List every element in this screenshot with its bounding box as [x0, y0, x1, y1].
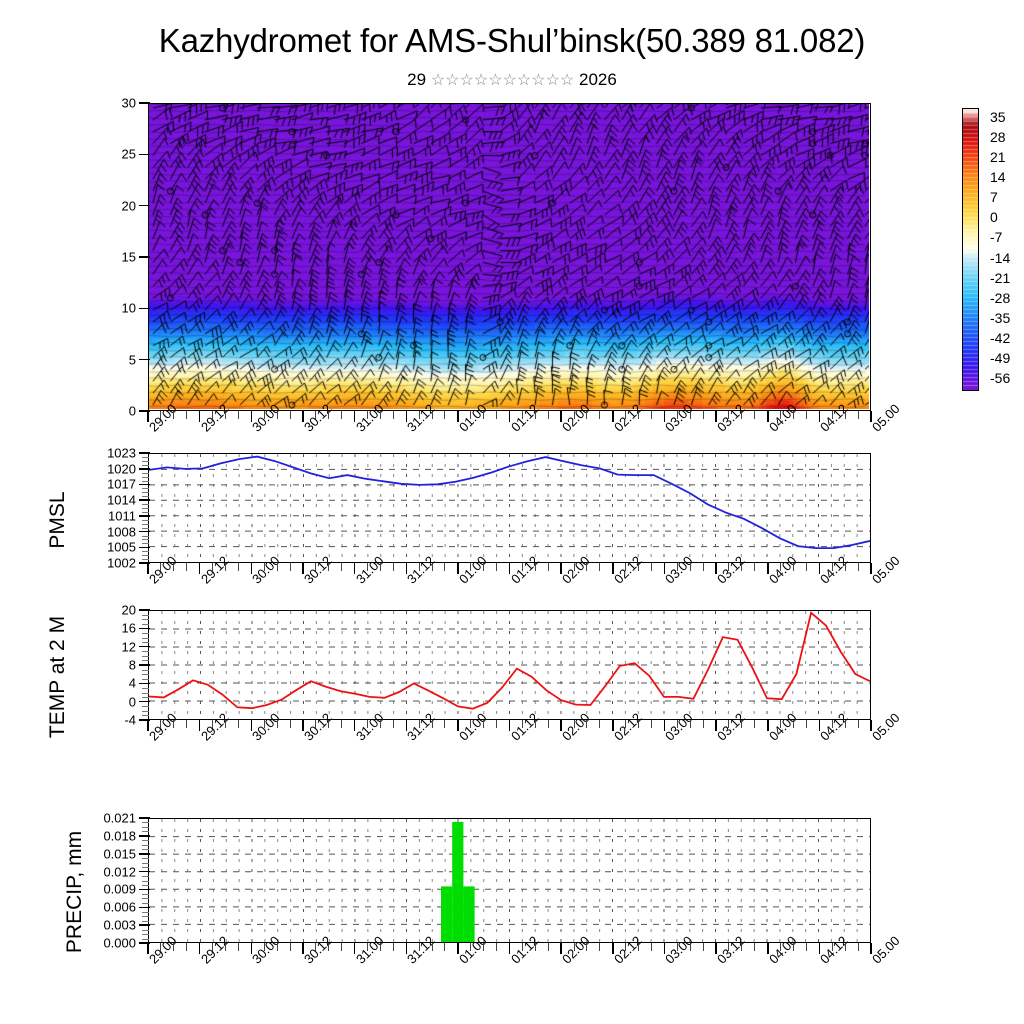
x-minor-tick: [238, 943, 239, 951]
y-minor-tick: [142, 457, 149, 458]
y-minor-tick: [142, 930, 149, 931]
x-minor-tick: [548, 720, 549, 728]
x-minor-tick: [277, 943, 278, 951]
data-series-line: [149, 613, 870, 709]
x-minor-tick: [535, 720, 536, 728]
colorbar-tick-label: -49: [990, 350, 1010, 366]
x-minor-tick: [728, 411, 729, 419]
y-minor-tick: [142, 912, 149, 913]
x-minor-tick: [419, 720, 420, 728]
x-minor-tick: [264, 720, 265, 728]
x-minor-tick: [548, 943, 549, 951]
x-minor-tick: [780, 411, 781, 419]
y-tick: [139, 609, 150, 611]
y-minor-tick: [142, 504, 149, 505]
y-minor-tick: [142, 876, 149, 877]
x-minor-tick: [328, 411, 329, 419]
x-minor-tick: [845, 943, 846, 951]
x-minor-tick: [277, 720, 278, 728]
y-tick: [139, 484, 150, 486]
colorbar-tick-label: -14: [990, 250, 1010, 266]
x-minor-tick: [328, 943, 329, 951]
y-tick-label: 0.009: [70, 882, 136, 897]
x-minor-tick: [690, 411, 691, 419]
precip-bar: [463, 886, 474, 942]
x-minor-tick: [703, 563, 704, 571]
x-minor-tick: [793, 563, 794, 571]
x-minor-tick: [160, 720, 161, 728]
x-minor-tick: [277, 411, 278, 419]
x-minor-tick: [225, 720, 226, 728]
y-tick: [139, 646, 150, 648]
y-tick: [139, 817, 150, 819]
x-minor-tick: [780, 720, 781, 728]
y-tick: [139, 628, 150, 630]
x-minor-tick: [367, 411, 368, 419]
x-minor-tick: [264, 943, 265, 951]
x-minor-tick: [290, 943, 291, 951]
x-minor-tick: [845, 411, 846, 419]
y-tick-label: 0.006: [70, 900, 136, 915]
y-tick: [139, 683, 150, 685]
x-minor-tick: [754, 411, 755, 419]
temp-panel: [148, 610, 871, 720]
y-tick-label: 10: [70, 301, 136, 316]
x-minor-tick: [522, 411, 523, 419]
x-minor-tick: [470, 411, 471, 419]
y-tick-label: 1014: [70, 493, 136, 508]
y-tick-label: 12: [70, 639, 136, 654]
x-minor-tick: [483, 411, 484, 419]
y-tick-label: 15: [70, 250, 136, 265]
x-minor-tick: [574, 943, 575, 951]
precip-panel: [148, 818, 871, 943]
y-tick-label: 1005: [70, 540, 136, 555]
y-tick: [139, 499, 150, 501]
y-minor-tick: [142, 939, 149, 940]
x-minor-tick: [703, 720, 704, 728]
x-minor-tick: [703, 411, 704, 419]
x-minor-tick: [599, 411, 600, 419]
x-minor-tick: [574, 720, 575, 728]
x-minor-tick: [832, 411, 833, 419]
x-minor-tick: [728, 720, 729, 728]
x-minor-tick: [290, 720, 291, 728]
x-minor-tick: [483, 943, 484, 951]
y-minor-tick: [142, 867, 149, 868]
y-minor-tick: [142, 679, 149, 680]
y-minor-tick: [142, 633, 149, 634]
y-tick-label: 0.012: [70, 864, 136, 879]
y-minor-tick: [142, 615, 149, 616]
x-minor-tick: [315, 563, 316, 571]
x-minor-tick: [535, 563, 536, 571]
y-tick: [139, 664, 150, 666]
y-tick-label: 1017: [70, 477, 136, 492]
colorbar-tick-label: 14: [990, 169, 1006, 185]
x-minor-tick: [444, 720, 445, 728]
x-minor-tick: [225, 943, 226, 951]
x-minor-tick: [754, 563, 755, 571]
y-minor-tick: [142, 524, 149, 525]
x-minor-tick: [858, 720, 859, 728]
y-minor-tick: [142, 822, 149, 823]
y-minor-tick: [142, 488, 149, 489]
y-minor-tick: [142, 693, 149, 694]
y-tick: [139, 835, 150, 837]
y-minor-tick: [142, 543, 149, 544]
y-tick: [139, 924, 150, 926]
x-minor-tick: [574, 563, 575, 571]
x-minor-tick: [264, 563, 265, 571]
x-tick-label: 05.00: [869, 710, 903, 744]
y-minor-tick: [142, 706, 149, 707]
x-minor-tick: [225, 563, 226, 571]
x-minor-tick: [341, 720, 342, 728]
x-minor-tick: [419, 563, 420, 571]
x-minor-tick: [483, 563, 484, 571]
y-tick-label: 1011: [70, 508, 136, 523]
y-minor-tick: [142, 688, 149, 689]
y-tick: [139, 102, 150, 104]
x-minor-tick: [858, 411, 859, 419]
x-minor-tick: [393, 943, 394, 951]
pmsl-panel: [148, 453, 871, 563]
x-minor-tick: [470, 720, 471, 728]
subtitle-missing-glyphs: ☆☆☆☆☆☆☆☆☆☆: [431, 72, 574, 89]
y-tick: [139, 853, 150, 855]
x-minor-tick: [225, 411, 226, 419]
x-minor-tick: [496, 563, 497, 571]
x-minor-tick: [845, 720, 846, 728]
x-minor-tick: [651, 563, 652, 571]
x-minor-tick: [393, 411, 394, 419]
x-minor-tick: [212, 411, 213, 419]
x-minor-tick: [186, 411, 187, 419]
y-minor-tick: [142, 674, 149, 675]
y-minor-tick: [142, 461, 149, 462]
y-tick: [139, 701, 150, 703]
y-tick-label: 30: [70, 96, 136, 111]
colorbar-tick-label: 28: [990, 129, 1006, 145]
y-minor-tick: [142, 555, 149, 556]
subtitle-year: 2026: [579, 70, 617, 89]
x-minor-tick: [173, 411, 174, 419]
x-minor-tick: [690, 563, 691, 571]
x-minor-tick: [173, 563, 174, 571]
y-tick-label: 16: [70, 621, 136, 636]
y-minor-tick: [142, 512, 149, 513]
x-minor-tick: [483, 720, 484, 728]
colorbar-tick-label: -21: [990, 270, 1010, 286]
x-minor-tick: [290, 411, 291, 419]
x-minor-tick: [741, 411, 742, 419]
y-minor-tick: [142, 642, 149, 643]
y-minor-tick: [142, 473, 149, 474]
colorbar: [962, 108, 979, 391]
x-minor-tick: [444, 563, 445, 571]
y-tick-label: 0.000: [70, 936, 136, 951]
x-minor-tick: [264, 411, 265, 419]
y-tick-label: 20: [70, 603, 136, 618]
y-tick-label: 5: [70, 352, 136, 367]
x-minor-tick: [535, 411, 536, 419]
x-minor-tick: [522, 943, 523, 951]
y-minor-tick: [142, 916, 149, 917]
y-tick-label: 4: [70, 676, 136, 691]
y-minor-tick: [142, 670, 149, 671]
x-minor-tick: [574, 411, 575, 419]
x-minor-tick: [380, 943, 381, 951]
colorbar-tick-label: -28: [990, 290, 1010, 306]
x-minor-tick: [160, 563, 161, 571]
x-minor-tick: [625, 411, 626, 419]
y-minor-tick: [142, 898, 149, 899]
pmsl-axis-label: PMSL: [46, 460, 70, 580]
colorbar-tick-label: 0: [990, 209, 998, 225]
temp-axis-label: TEMP at 2 M: [46, 587, 70, 767]
colorbar-tick-label: 7: [990, 189, 998, 205]
y-minor-tick: [142, 496, 149, 497]
x-minor-tick: [586, 720, 587, 728]
x-minor-tick: [173, 943, 174, 951]
x-minor-tick: [780, 943, 781, 951]
x-minor-tick: [432, 943, 433, 951]
y-tick: [139, 154, 150, 156]
colorbar-tick-label: 35: [990, 109, 1006, 125]
y-minor-tick: [142, 858, 149, 859]
y-tick-label: 0: [70, 694, 136, 709]
x-minor-tick: [586, 943, 587, 951]
x-minor-tick: [780, 563, 781, 571]
y-tick-label: 1002: [70, 556, 136, 571]
x-minor-tick: [793, 943, 794, 951]
x-minor-tick: [496, 943, 497, 951]
y-tick-label: 0: [70, 404, 136, 419]
y-minor-tick: [142, 715, 149, 716]
y-minor-tick: [142, 551, 149, 552]
y-tick: [139, 308, 150, 310]
x-minor-tick: [677, 720, 678, 728]
x-minor-tick: [677, 943, 678, 951]
x-minor-tick: [341, 411, 342, 419]
precip-bar: [441, 886, 452, 942]
x-minor-tick: [212, 563, 213, 571]
y-tick-label: 0.021: [70, 811, 136, 826]
x-minor-tick: [328, 563, 329, 571]
x-minor-tick: [380, 563, 381, 571]
x-minor-tick: [638, 411, 639, 419]
x-minor-tick: [419, 943, 420, 951]
x-minor-tick: [341, 943, 342, 951]
y-tick-label: 20: [70, 198, 136, 213]
x-minor-tick: [173, 720, 174, 728]
y-minor-tick: [142, 863, 149, 864]
x-minor-tick: [677, 563, 678, 571]
y-tick: [139, 359, 150, 361]
y-minor-tick: [142, 660, 149, 661]
y-tick: [139, 205, 150, 207]
x-minor-tick: [367, 943, 368, 951]
x-minor-tick: [845, 563, 846, 571]
y-minor-tick: [142, 840, 149, 841]
y-tick: [139, 871, 150, 873]
x-minor-tick: [703, 943, 704, 951]
x-minor-tick: [741, 720, 742, 728]
x-minor-tick: [496, 720, 497, 728]
y-minor-tick: [142, 845, 149, 846]
x-minor-tick: [444, 943, 445, 951]
x-minor-tick: [367, 563, 368, 571]
page-title: Kazhydromet for AMS-Shul’binsk(50.389 81…: [0, 22, 1024, 60]
x-minor-tick: [741, 943, 742, 951]
x-minor-tick: [393, 720, 394, 728]
y-tick-label: -4: [70, 713, 136, 728]
y-tick-label: 0.003: [70, 918, 136, 933]
x-minor-tick: [367, 720, 368, 728]
x-minor-tick: [793, 411, 794, 419]
x-minor-tick: [728, 563, 729, 571]
x-minor-tick: [832, 563, 833, 571]
x-minor-tick: [522, 563, 523, 571]
y-tick-label: 8: [70, 658, 136, 673]
x-minor-tick: [651, 943, 652, 951]
x-minor-tick: [638, 563, 639, 571]
x-minor-tick: [599, 563, 600, 571]
y-minor-tick: [142, 881, 149, 882]
y-minor-tick: [142, 651, 149, 652]
x-minor-tick: [638, 943, 639, 951]
x-minor-tick: [315, 720, 316, 728]
x-minor-tick: [548, 411, 549, 419]
y-tick: [139, 889, 150, 891]
y-minor-tick: [142, 539, 149, 540]
y-minor-tick: [142, 831, 149, 832]
x-minor-tick: [522, 720, 523, 728]
y-tick: [139, 907, 150, 909]
x-minor-tick: [625, 943, 626, 951]
x-minor-tick: [315, 411, 316, 419]
x-minor-tick: [858, 563, 859, 571]
y-minor-tick: [142, 903, 149, 904]
y-minor-tick: [142, 536, 149, 537]
x-minor-tick: [690, 720, 691, 728]
x-tick-label: 05.00: [869, 401, 903, 435]
x-minor-tick: [290, 563, 291, 571]
x-minor-tick: [419, 411, 420, 419]
x-minor-tick: [651, 411, 652, 419]
y-tick-label: 1008: [70, 524, 136, 539]
cross-section-panel: [148, 103, 871, 411]
x-minor-tick: [832, 720, 833, 728]
y-tick-label: 0.015: [70, 846, 136, 861]
x-minor-tick: [238, 720, 239, 728]
y-minor-tick: [142, 508, 149, 509]
y-minor-tick: [142, 849, 149, 850]
x-minor-tick: [470, 563, 471, 571]
x-minor-tick: [341, 563, 342, 571]
x-tick-label: 05.00: [869, 933, 903, 967]
y-tick: [139, 531, 150, 533]
x-minor-tick: [754, 720, 755, 728]
x-minor-tick: [432, 563, 433, 571]
x-minor-tick: [586, 411, 587, 419]
y-tick: [139, 515, 150, 517]
x-minor-tick: [238, 563, 239, 571]
x-minor-tick: [638, 720, 639, 728]
x-minor-tick: [806, 411, 807, 419]
y-tick: [139, 256, 150, 258]
colorbar-tick-label: -7: [990, 229, 1002, 245]
x-minor-tick: [380, 411, 381, 419]
x-minor-tick: [393, 563, 394, 571]
y-minor-tick: [142, 520, 149, 521]
y-minor-tick: [142, 827, 149, 828]
y-minor-tick: [142, 477, 149, 478]
y-minor-tick: [142, 885, 149, 886]
x-minor-tick: [625, 720, 626, 728]
x-minor-tick: [599, 720, 600, 728]
y-minor-tick: [142, 711, 149, 712]
x-minor-tick: [651, 720, 652, 728]
x-minor-tick: [432, 411, 433, 419]
colorbar-tick-label: -42: [990, 330, 1010, 346]
x-minor-tick: [160, 943, 161, 951]
y-minor-tick: [142, 638, 149, 639]
y-minor-tick: [142, 656, 149, 657]
x-minor-tick: [238, 411, 239, 419]
y-minor-tick: [142, 465, 149, 466]
x-minor-tick: [806, 943, 807, 951]
x-minor-tick: [806, 563, 807, 571]
x-minor-tick: [212, 720, 213, 728]
x-minor-tick: [677, 411, 678, 419]
x-minor-tick: [535, 943, 536, 951]
x-minor-tick: [186, 563, 187, 571]
colorbar-tick-label: -35: [990, 310, 1010, 326]
x-minor-tick: [160, 411, 161, 419]
x-minor-tick: [690, 943, 691, 951]
x-minor-tick: [858, 943, 859, 951]
x-minor-tick: [432, 720, 433, 728]
x-minor-tick: [328, 720, 329, 728]
x-minor-tick: [599, 943, 600, 951]
x-minor-tick: [315, 943, 316, 951]
y-tick-label: 0.018: [70, 828, 136, 843]
y-tick-label: 1020: [70, 461, 136, 476]
x-minor-tick: [212, 943, 213, 951]
x-tick-label: 05.00: [869, 553, 903, 587]
colorbar-tick-label: 21: [990, 149, 1006, 165]
y-tick: [139, 468, 150, 470]
y-minor-tick: [142, 934, 149, 935]
x-minor-tick: [496, 411, 497, 419]
x-minor-tick: [728, 943, 729, 951]
x-minor-tick: [548, 563, 549, 571]
page-subtitle: 29 ☆☆☆☆☆☆☆☆☆☆ 2026: [0, 70, 1024, 90]
x-minor-tick: [741, 563, 742, 571]
y-minor-tick: [142, 697, 149, 698]
y-minor-tick: [142, 619, 149, 620]
x-minor-tick: [380, 720, 381, 728]
y-minor-tick: [142, 624, 149, 625]
x-minor-tick: [793, 720, 794, 728]
y-tick: [139, 452, 150, 454]
y-tick-label: 1023: [70, 446, 136, 461]
y-minor-tick: [142, 559, 149, 560]
y-minor-tick: [142, 894, 149, 895]
x-minor-tick: [470, 943, 471, 951]
